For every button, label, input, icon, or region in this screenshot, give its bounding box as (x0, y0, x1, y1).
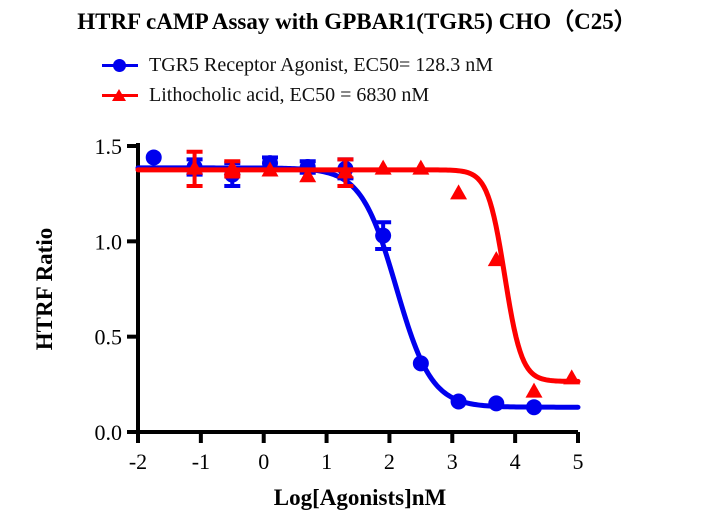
plot-area: -2-10123450.00.51.01.5Log[Agonists]nMHTR… (0, 0, 714, 521)
x-tick-label: 0 (258, 449, 269, 474)
data-point-marker (413, 355, 429, 371)
x-tick-label: 5 (573, 449, 584, 474)
axis-labels-layer: -2-10123450.00.51.01.5Log[Agonists]nMHTR… (32, 134, 584, 510)
data-point-marker (450, 184, 467, 199)
x-tick-label: -2 (129, 449, 147, 474)
data-point-marker (451, 393, 467, 409)
x-tick-label: -1 (192, 449, 210, 474)
data-point-marker (375, 160, 392, 175)
x-tick-label: 1 (321, 449, 332, 474)
series-agonist (138, 149, 578, 415)
y-axis-title: HTRF Ratio (32, 228, 57, 350)
data-point-marker (146, 149, 162, 165)
y-tick-label: 0.5 (95, 325, 123, 350)
fit-curve (138, 170, 578, 382)
data-point-marker (412, 160, 429, 175)
series-layer (138, 149, 580, 415)
y-tick-label: 1.0 (95, 229, 123, 254)
y-tick-label: 0.0 (95, 420, 123, 445)
x-tick-label: 3 (447, 449, 458, 474)
chart-page: HTRF cAMP Assay with GPBAR1(TGR5) CHO（C2… (0, 0, 714, 521)
series-lithocholic (138, 152, 580, 398)
data-point-marker (526, 399, 542, 415)
x-tick-label: 2 (384, 449, 395, 474)
x-axis-title: Log[Agonists]nM (274, 485, 447, 510)
x-tick-label: 4 (510, 449, 521, 474)
data-point-marker (488, 395, 504, 411)
data-point-marker (375, 228, 391, 244)
data-point-marker (526, 383, 543, 398)
data-point-marker (563, 369, 580, 384)
y-tick-label: 1.5 (95, 134, 123, 159)
fit-curve (138, 168, 578, 407)
